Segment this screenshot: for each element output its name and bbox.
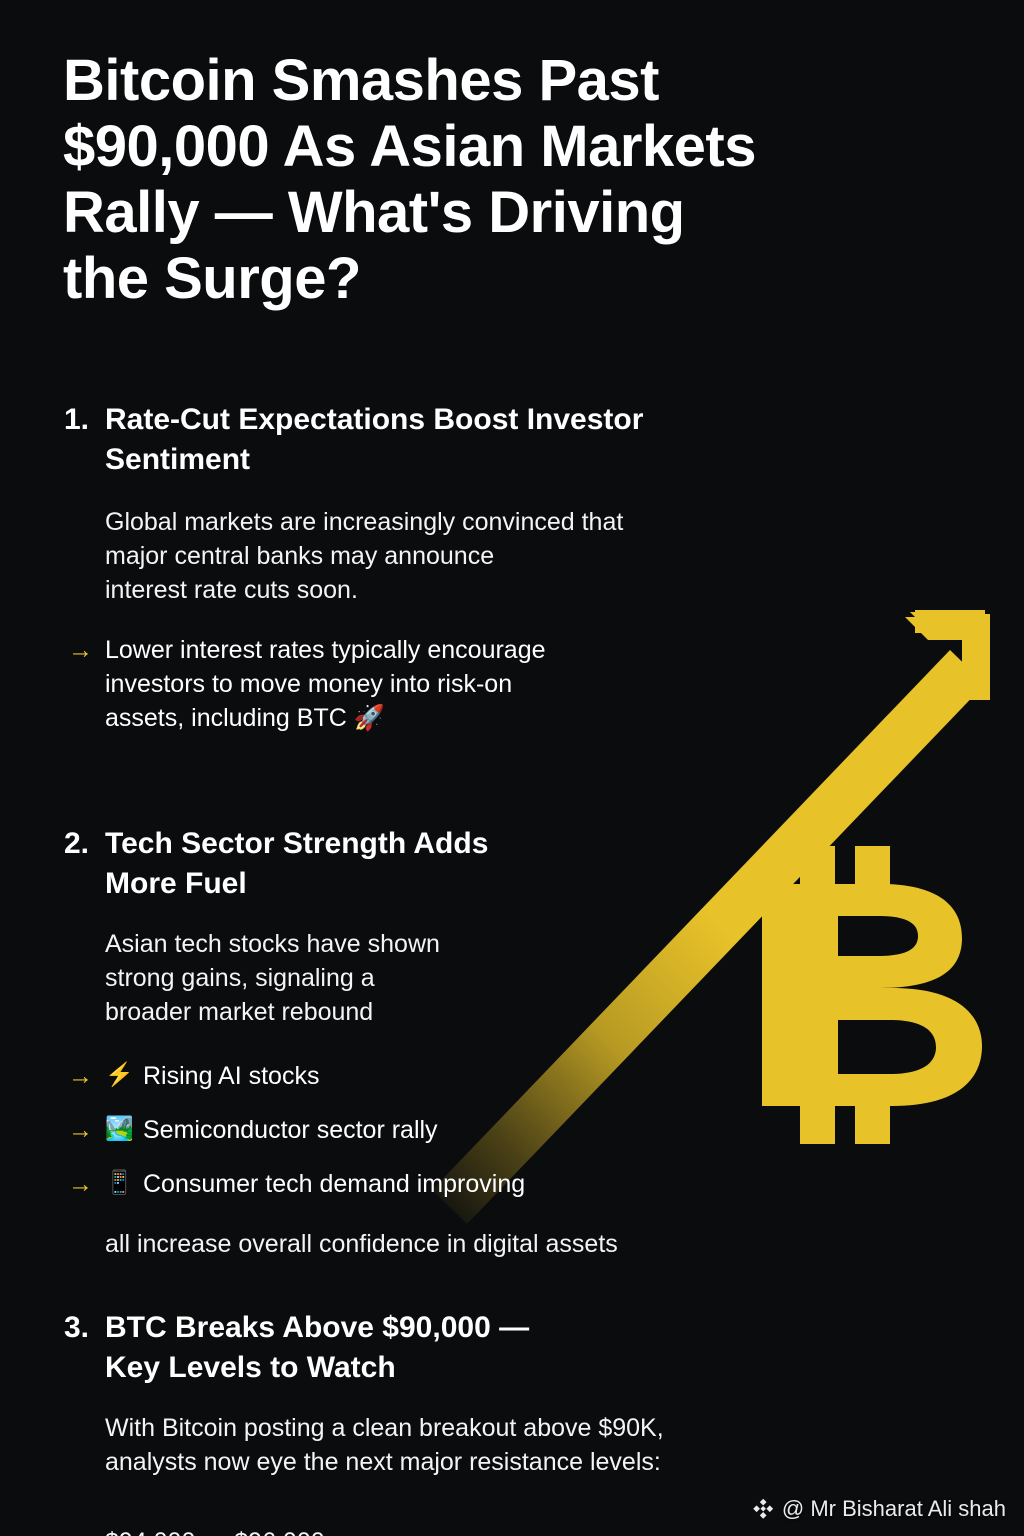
cutoff-line: $94,000 — $96,000 — [105, 1525, 325, 1536]
section-3: 3. BTC Breaks Above $90,000 — Key Levels… — [0, 1308, 1024, 1479]
section-1: 1. Rate-Cut Expectations Boost Investor … — [0, 400, 1024, 735]
arrow-bullet-icon: → — [68, 1167, 105, 1201]
section-1-heading: 1. Rate-Cut Expectations Boost Investor … — [0, 400, 1024, 479]
section-1-title: Rate-Cut Expectations Boost Investor Sen… — [105, 400, 865, 479]
section-2-bullet-2: → 🏞️ Semiconductor sector rally — [0, 1113, 1024, 1147]
mobile-phone-emoji: 📱 — [105, 1167, 143, 1198]
arrow-bullet-icon: → — [68, 1113, 105, 1147]
watermark-text: @ Mr Bisharat Ali shah — [782, 1496, 1006, 1522]
lightning-bolt-emoji: ⚡ — [105, 1059, 143, 1090]
section-2: 2. Tech Sector Strength Adds More Fuel A… — [0, 824, 1024, 1261]
section-2-paragraph: Asian tech stocks have shown strong gain… — [0, 927, 820, 1029]
section-1-number: 1. — [64, 400, 105, 440]
section-3-paragraph: With Bitcoin posting a clean breakout ab… — [0, 1411, 820, 1479]
section-3-title: BTC Breaks Above $90,000 — Key Levels to… — [105, 1308, 865, 1387]
section-2-trailing-text: all increase overall confidence in digit… — [0, 1227, 1024, 1261]
section-1-bullet-1: → Lower interest rates typically encoura… — [0, 633, 1024, 735]
arrow-bullet-icon: → — [68, 633, 105, 667]
section-2-bullet-1: → ⚡ Rising AI stocks — [0, 1059, 1024, 1093]
poster-canvas: Bitcoin Smashes Past $90,000 As Asian Ma… — [0, 0, 1024, 1536]
section-2-bullet-2-text: Semiconductor sector rally — [143, 1113, 843, 1147]
arrow-bullet-icon: → — [68, 1059, 105, 1093]
watermark: @ Mr Bisharat Ali shah — [752, 1496, 1006, 1522]
section-3-heading: 3. BTC Breaks Above $90,000 — Key Levels… — [0, 1308, 1024, 1387]
section-2-number: 2. — [64, 824, 105, 864]
section-1-bullet-1-text: Lower interest rates typically encourage… — [105, 633, 805, 735]
binance-diamond-logo — [752, 1498, 774, 1520]
section-2-title: Tech Sector Strength Adds More Fuel — [105, 824, 865, 903]
section-2-bullet-3-text: Consumer tech demand improving — [143, 1167, 843, 1201]
section-2-bullet-3: → 📱 Consumer tech demand improving — [0, 1167, 1024, 1201]
section-2-bullet-1-text: Rising AI stocks — [143, 1059, 843, 1093]
section-3-number: 3. — [64, 1308, 105, 1348]
section-2-heading: 2. Tech Sector Strength Adds More Fuel — [0, 824, 1024, 903]
landscape-picture-emoji: 🏞️ — [105, 1113, 143, 1144]
page-title: Bitcoin Smashes Past $90,000 As Asian Ma… — [63, 48, 943, 312]
section-1-paragraph: Global markets are increasingly convince… — [0, 505, 820, 607]
